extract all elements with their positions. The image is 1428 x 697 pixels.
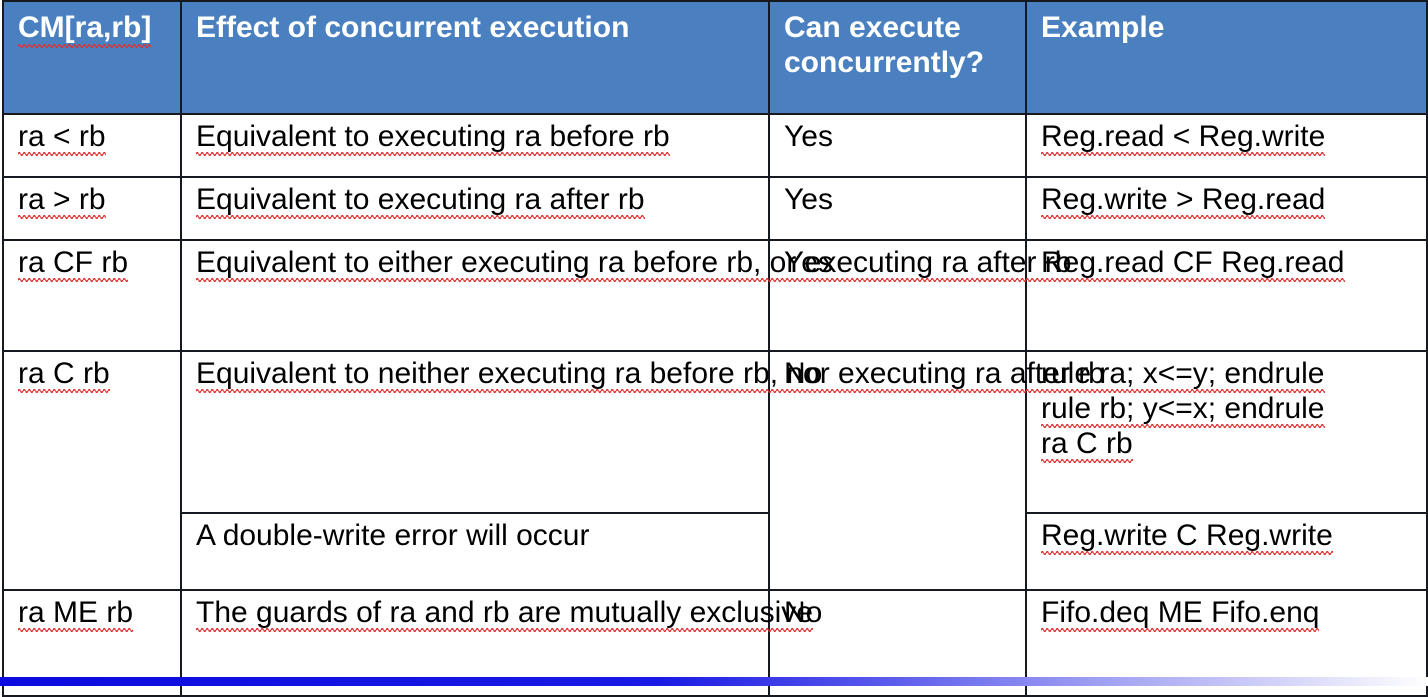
cm-expression: ra ME rb [18, 595, 133, 630]
column-header-cm: CM[ra,rb] [3, 1, 181, 114]
table-row: ra C rb Equivalent to neither executing … [3, 351, 1427, 513]
cell-effect: A double-write error will occur [181, 513, 769, 590]
table-header-row: CM[ra,rb] Effect of concurrent execution… [3, 1, 1427, 114]
column-header-effect-label: Effect of concurrent execution [196, 11, 629, 44]
example-text: Reg.write > Reg.read [1041, 182, 1325, 217]
example-text: Reg.read < Reg.write [1041, 119, 1325, 154]
effect-text: Equivalent to executing ra before rb [196, 119, 670, 154]
table-row: ra < rb Equivalent to executing ra befor… [3, 114, 1427, 177]
example-text: Reg.read CF Reg.read [1041, 245, 1345, 280]
cell-example: Reg.write C Reg.write [1026, 513, 1427, 590]
slide-accent-bar [0, 677, 1428, 686]
table-header: CM[ra,rb] Effect of concurrent execution… [3, 1, 1427, 114]
column-header-example: Example [1026, 1, 1427, 114]
table-row: A double-write error will occur Reg.writ… [3, 513, 1427, 590]
cm-expression: ra CF rb [18, 245, 128, 280]
cm-expression: ra C rb [18, 356, 110, 391]
effect-text: Equivalent to either executing ra before… [196, 245, 1072, 280]
cell-can-execute: Yes [769, 177, 1026, 240]
table-row: ra CF rb Equivalent to either executing … [3, 240, 1427, 351]
cell-cm: ra < rb [3, 114, 181, 177]
effect-text: A double-write error will occur [196, 519, 589, 552]
example-line: Reg.write C Reg.write [1041, 518, 1333, 553]
cell-example: Reg.read < Reg.write [1026, 114, 1427, 177]
column-header-can-execute-label: Can execute concurrently? [784, 11, 984, 79]
column-header-example-label: Example [1041, 11, 1164, 44]
cell-cm: ra CF rb [3, 240, 181, 351]
cell-effect: Equivalent to executing ra after rb [181, 177, 769, 240]
can-execute-value: Yes [784, 120, 833, 153]
cell-example: Reg.read CF Reg.read [1026, 240, 1427, 351]
cell-can-execute: Yes [769, 114, 1026, 177]
example-line: rule ra; x<=y; endrule [1041, 356, 1325, 391]
cell-example: rule ra; x<=y; endrule rule rb; y<=x; en… [1026, 351, 1427, 513]
table-row: ra > rb Equivalent to executing ra after… [3, 177, 1427, 240]
cell-effect: Equivalent to neither executing ra befor… [181, 351, 769, 513]
cell-cm: ra C rb [3, 351, 181, 590]
example-line: rule rb; y<=x; endrule [1041, 391, 1325, 426]
cell-effect: Equivalent to either executing ra before… [181, 240, 769, 351]
effect-text: Equivalent to neither executing ra befor… [196, 356, 1105, 391]
column-header-cm-label: CM[ra,rb] [18, 11, 151, 46]
column-header-effect: Effect of concurrent execution [181, 1, 769, 114]
column-header-can-execute: Can execute concurrently? [769, 1, 1026, 114]
effect-text: Equivalent to executing ra after rb [196, 182, 645, 217]
cell-effect: Equivalent to executing ra before rb [181, 114, 769, 177]
cell-example: Reg.write > Reg.read [1026, 177, 1427, 240]
effect-text: The guards of ra and rb are mutually exc… [196, 595, 813, 630]
cm-expression: ra < rb [18, 119, 106, 154]
can-execute-value: Yes [784, 183, 833, 216]
concurrency-matrix-table: CM[ra,rb] Effect of concurrent execution… [2, 0, 1428, 697]
example-text: Fifo.deq ME Fifo.enq [1041, 595, 1319, 630]
example-line: ra C rb [1041, 426, 1133, 461]
table-body: ra < rb Equivalent to executing ra befor… [3, 114, 1427, 696]
cell-cm: ra > rb [3, 177, 181, 240]
concurrency-matrix-table-container: CM[ra,rb] Effect of concurrent execution… [0, 0, 1428, 686]
cm-expression: ra > rb [18, 182, 106, 217]
